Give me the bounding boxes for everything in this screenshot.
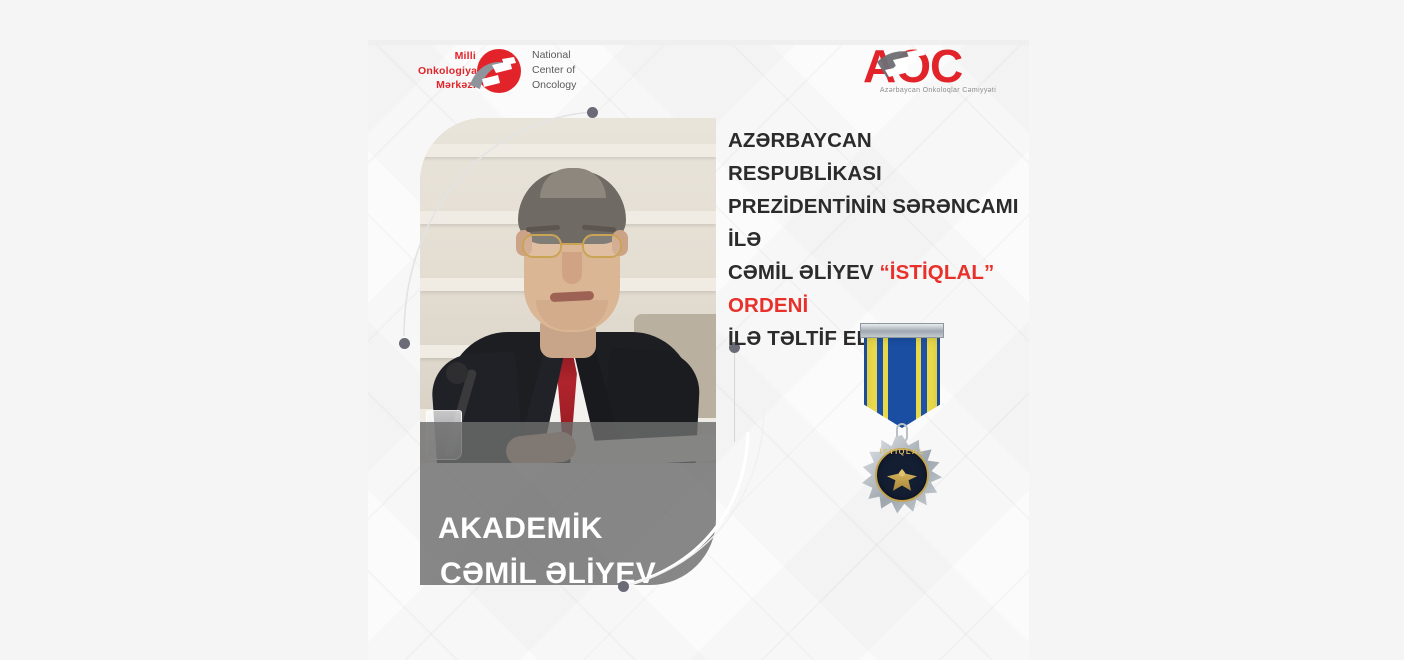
medal-suspension-bar <box>860 323 944 338</box>
medal-inscription: İSTİQLAL <box>862 447 942 479</box>
logo-left-en-line1: National <box>532 48 628 63</box>
aoc-logo: AOC Azərbaycan Onkoloqlar Cəmiyyəti <box>863 42 1013 104</box>
caption-line-2: CƏMİL ƏLİYEV <box>438 551 656 596</box>
person-nose <box>562 252 582 284</box>
milli-onkologiya-merkezi-logo: Milli Onkologiya Mərkəzi National Center… <box>418 43 628 105</box>
caption-line-1: AKADEMİK <box>438 506 656 551</box>
glasses-bridge <box>562 243 582 245</box>
svg-text:AOC: AOC <box>863 42 962 89</box>
academician-photo <box>420 118 716 463</box>
headline-line-1: AZƏRBAYCAN RESPUBLİKASI <box>728 124 1020 190</box>
decorative-dot-top <box>587 107 598 118</box>
wall-moulding <box>420 144 716 157</box>
headline-line-2: PREZİDENTİNİN SƏRƏNCAMI İLƏ <box>728 190 1020 256</box>
medal-star-medallion: İSTİQLAL <box>862 435 942 515</box>
lens-right <box>582 234 622 258</box>
lens-left <box>522 234 562 258</box>
logo-left-en-line2: Center of <box>532 63 628 78</box>
logo-left-en-text: National Center of Oncology <box>532 48 628 94</box>
microphone-head-icon <box>446 362 468 384</box>
caption-text: AKADEMİK CƏMİL ƏLİYEV <box>438 506 656 596</box>
poster-card: Milli Onkologiya Mərkəzi National Center… <box>368 40 1029 660</box>
aoc-subtitle: Azərbaycan Onkoloqlar Cəmiyyəti <box>863 87 1013 94</box>
aoc-acronym-icon: AOC <box>863 42 1013 89</box>
headline-line-3-plain: CƏMİL ƏLİYEV <box>728 261 879 284</box>
istiqlal-order-medal: İSTİQLAL <box>856 323 948 519</box>
decorative-dot-left <box>399 338 410 349</box>
logo-left-en-line3: Oncology <box>532 78 628 93</box>
name-caption-plate: AKADEMİK CƏMİL ƏLİYEV <box>420 422 716 585</box>
decorative-vertical-line <box>734 350 735 442</box>
red-circle-handshake-icon <box>466 45 524 103</box>
photo-content <box>420 118 716 463</box>
headline-line-3: CƏMİL ƏLİYEV “İSTİQLAL” ORDENİ <box>728 256 1020 322</box>
headline-text: AZƏRBAYCAN RESPUBLİKASI PREZİDENTİNİN SƏ… <box>728 124 1020 355</box>
medal-ribbon <box>864 338 940 428</box>
poster-stage: Milli Onkologiya Mərkəzi National Center… <box>0 0 1404 660</box>
